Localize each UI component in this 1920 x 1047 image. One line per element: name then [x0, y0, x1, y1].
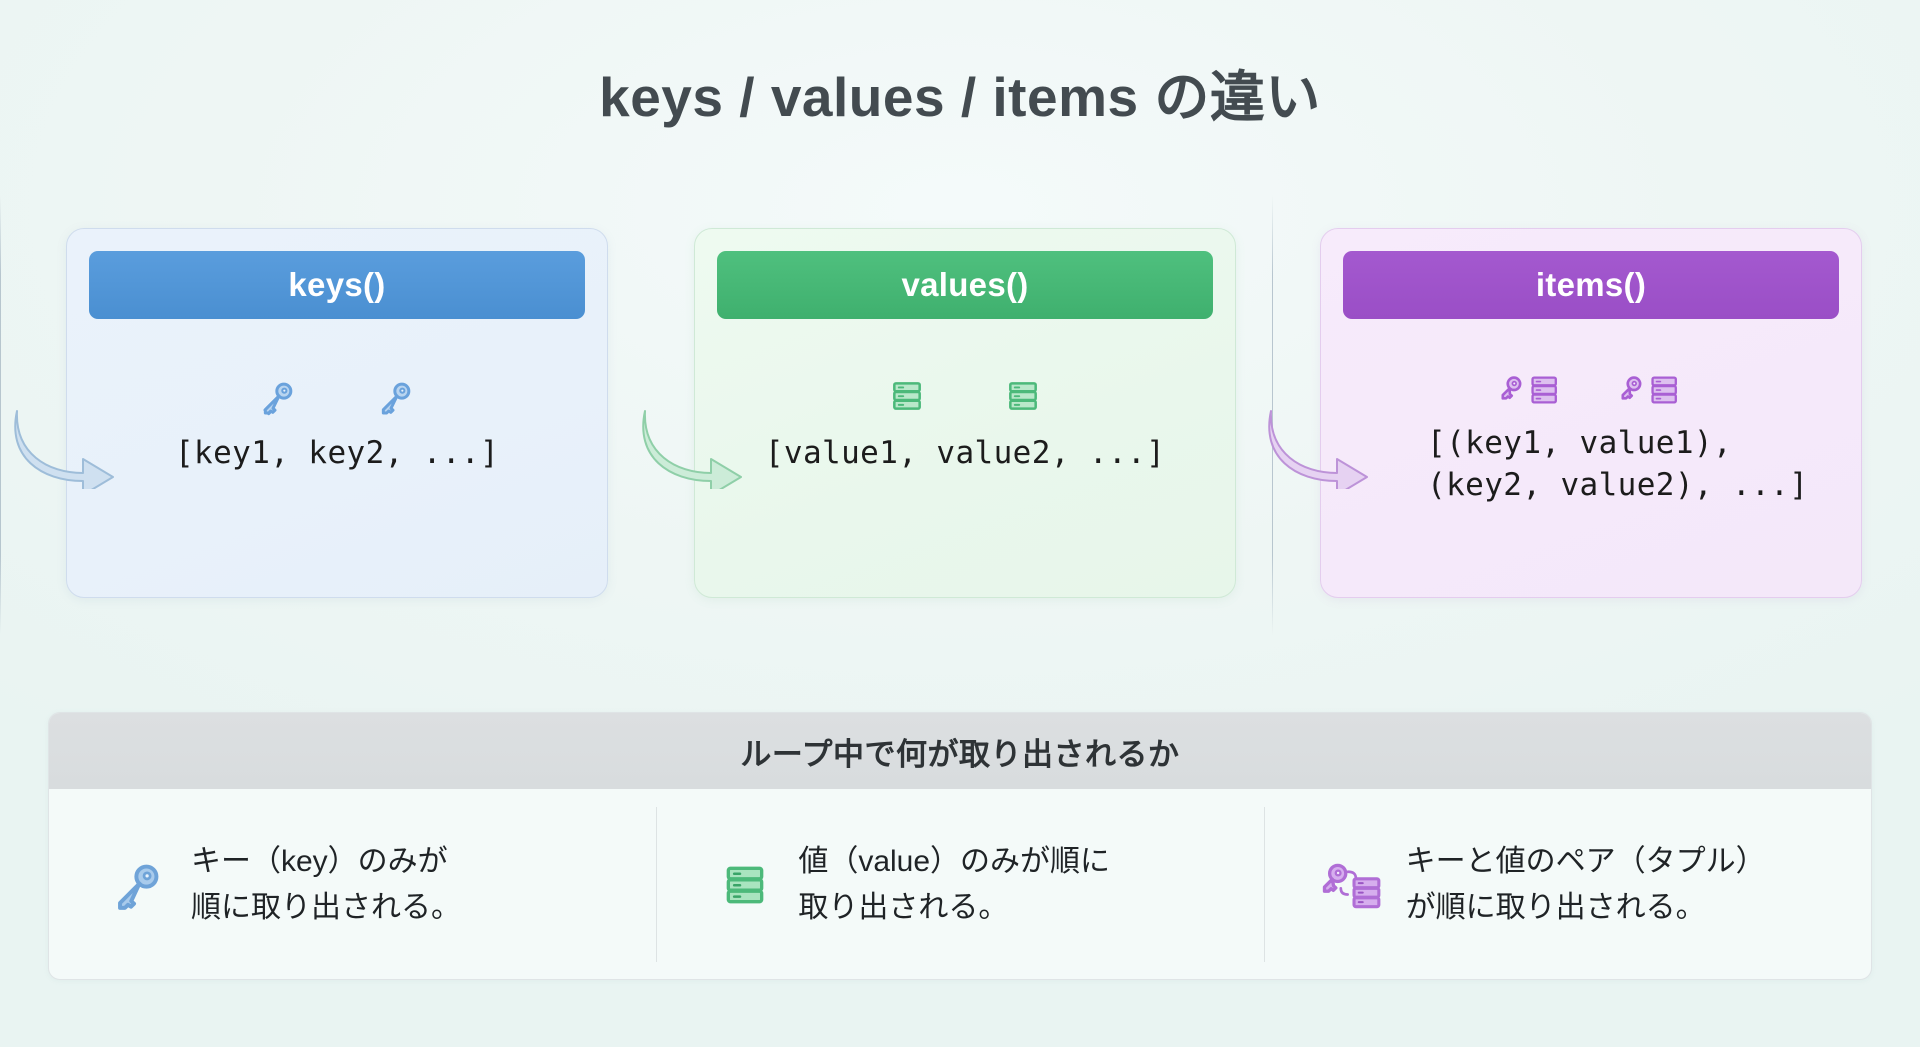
- key-icon: [107, 857, 169, 913]
- summary-table-body: キー（key）のみが 順に取り出される。: [49, 789, 1871, 980]
- code-keys: [key1, key2, ...]: [67, 435, 607, 471]
- table-cell-text-values: 値（value）のみが順に 取り出される。: [798, 839, 1110, 930]
- slide-root: keys / values / items の違い keys(): [0, 0, 1920, 1047]
- summary-table: ループ中で何が取り出されるか キー（key）のみが 順に取り出される。: [48, 712, 1872, 980]
- table-row-keys: キー（key）のみが 順に取り出される。: [49, 789, 656, 980]
- database-icon: [1004, 377, 1042, 415]
- code-items-line-2: (key2, value2), ...]: [1321, 467, 1920, 503]
- card-keys[interactable]: keys(): [66, 228, 608, 598]
- cards-row: keys(): [0, 228, 1920, 608]
- key-icon: [376, 377, 416, 417]
- card-title-values: values(): [901, 266, 1028, 304]
- card-title-keys: keys(): [288, 266, 385, 304]
- key-icon: [258, 377, 298, 417]
- table-cell-text-keys: キー（key）のみが 順に取り出される。: [191, 839, 461, 930]
- summary-table-header: ループ中で何が取り出されるか: [49, 713, 1871, 789]
- table-cell-text-items: キーと値のペア（タプル） が順に取り出される。: [1406, 839, 1766, 930]
- table-row-values: 値（value）のみが順に 取り出される。: [656, 789, 1263, 980]
- card-header-items: items(): [1343, 251, 1839, 319]
- card-items[interactable]: items(): [1320, 228, 1862, 598]
- summary-table-header-label: ループ中で何が取り出されるか: [740, 729, 1179, 774]
- key-database-icon: [1500, 371, 1562, 409]
- table-row-items: キーと値のペア（タプル） が順に取り出される。: [1264, 789, 1871, 980]
- card-title-items: items(): [1536, 266, 1646, 304]
- code-items-line-1: [(key1, value1),: [1321, 425, 1920, 461]
- page-title: keys / values / items の違い: [0, 52, 1920, 132]
- code-values: [value1, value2, ...]: [695, 435, 1235, 471]
- database-icon: [888, 377, 926, 415]
- database-icon: [714, 860, 776, 910]
- keys-icon-row: [67, 377, 607, 417]
- key-database-icon: [1322, 857, 1384, 913]
- key-database-icon: [1620, 371, 1682, 409]
- card-header-keys: keys(): [89, 251, 585, 319]
- items-icon-row: [1321, 371, 1861, 409]
- card-values[interactable]: values(): [694, 228, 1236, 598]
- values-icon-row: [695, 377, 1235, 415]
- card-header-values: values(): [717, 251, 1213, 319]
